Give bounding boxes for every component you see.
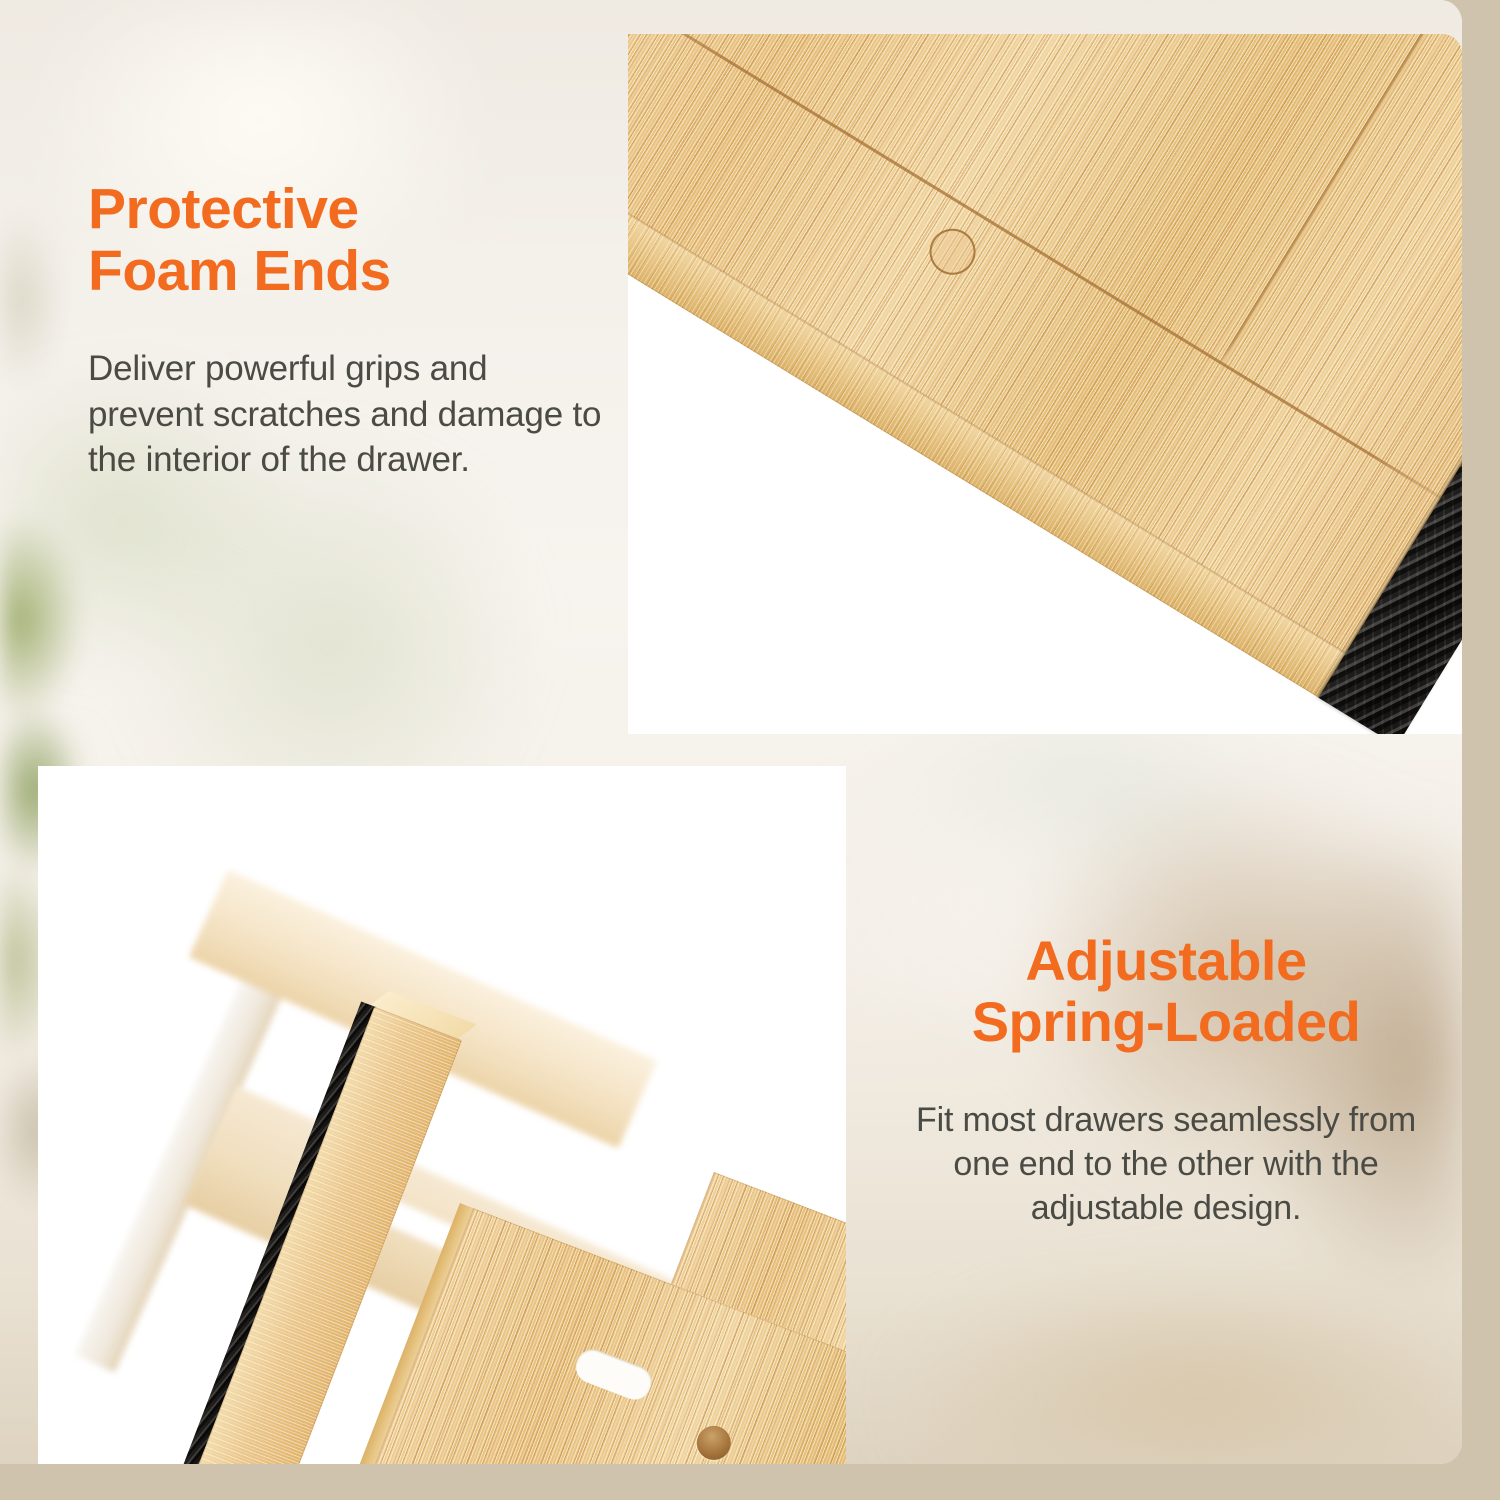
feature-text-spring-loaded: Adjustable Spring-Loaded Fit most drawer… [896,930,1436,1231]
headline-line-2: Foam Ends [88,239,391,303]
feature-headline-spring-loaded: Adjustable Spring-Loaded [896,930,1436,1052]
product-photo-divider-panel [628,34,1462,704]
headline-line-1: Adjustable [1025,929,1306,992]
feature-body-spring-loaded: Fit most drawers seamlessly from one end… [896,1098,1436,1231]
headline-line-2: Spring-Loaded [972,990,1361,1053]
outer-frame: Protective Foam Ends Deliver powerful gr… [0,0,1500,1500]
content-panel: Protective Foam Ends Deliver powerful gr… [0,0,1462,1464]
feature-photo-card-foam-ends [628,34,1462,734]
feature-body-foam-ends: Deliver powerful grips and prevent scrat… [88,346,608,483]
headline-line-1: Protective [88,177,359,241]
feature-headline-foam-ends: Protective Foam Ends [88,178,608,302]
feature-photo-card-spring-loaded [38,766,846,1464]
feature-text-foam-ends: Protective Foam Ends Deliver powerful gr… [88,178,608,483]
product-photo-exploded-divider [38,766,846,1464]
